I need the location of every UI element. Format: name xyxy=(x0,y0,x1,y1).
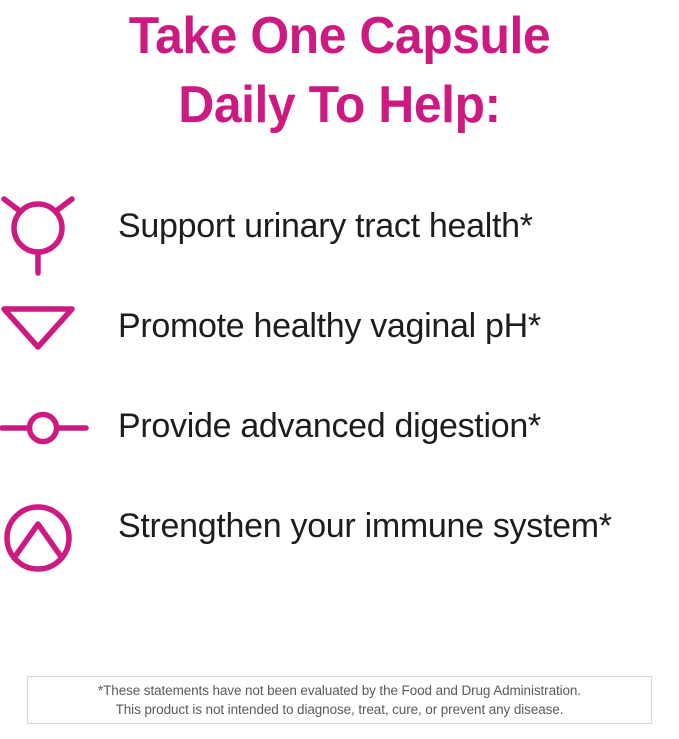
benefit-label: Support urinary tract health* xyxy=(118,190,679,251)
page-title-line-2: Daily To Help: xyxy=(14,71,666,140)
benefit-icon-slot xyxy=(0,290,118,352)
disclaimer-line-2: This product is not intended to diagnose… xyxy=(116,700,564,719)
down-triangle-icon xyxy=(0,304,76,352)
benefit-item: Strengthen your immune system* xyxy=(0,490,679,610)
product-benefits-panel: Take One Capsule Daily To Help: Support … xyxy=(0,0,679,739)
benefit-icon-slot xyxy=(0,490,118,576)
benefit-item: Support urinary tract health* xyxy=(0,190,679,290)
circle-on-horizontal-line-icon xyxy=(0,410,90,446)
circle-with-chevron-up-icon xyxy=(0,500,76,576)
benefit-item: Promote healthy vaginal pH* xyxy=(0,290,679,390)
page-title: Take One Capsule Daily To Help: xyxy=(14,2,666,140)
benefit-item: Provide advanced digestion* xyxy=(0,390,679,490)
benefits-list: Support urinary tract health* Promote he… xyxy=(0,190,679,610)
benefit-label: Promote healthy vaginal pH* xyxy=(118,290,679,351)
benefit-label: Provide advanced digestion* xyxy=(118,390,679,451)
page-title-line-1: Take One Capsule xyxy=(14,2,666,71)
disclaimer-box: *These statements have not been evaluate… xyxy=(27,676,652,724)
benefit-label: Strengthen your immune system* xyxy=(118,490,679,551)
disclaimer-line-1: *These statements have not been evaluate… xyxy=(98,681,581,700)
benefit-icon-slot xyxy=(0,390,118,446)
benefit-icon-slot xyxy=(0,190,118,276)
circle-with-three-arms-icon xyxy=(0,194,76,276)
